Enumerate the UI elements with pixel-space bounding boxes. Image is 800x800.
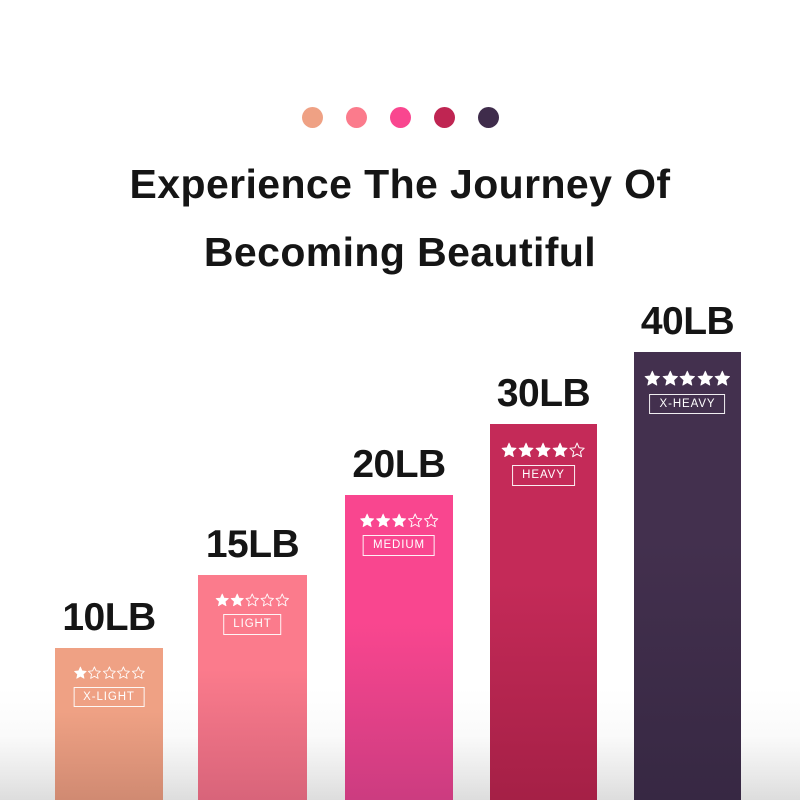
star-filled-icon xyxy=(502,442,518,458)
bar-badge: HEAVY xyxy=(499,442,589,486)
star-rating xyxy=(360,513,439,528)
star-filled-icon xyxy=(519,442,535,458)
star-filled-icon xyxy=(215,593,229,607)
star-empty-icon xyxy=(131,666,145,680)
poster-canvas: Experience The Journey Of Becoming Beaut… xyxy=(0,0,800,800)
star-filled-icon xyxy=(73,666,87,680)
bar-value-label: 10LB xyxy=(62,598,155,648)
bar-group-heavy[interactable]: 30LBHEAVY xyxy=(490,424,597,800)
bar-fill: X-HEAVY xyxy=(634,352,741,800)
bar-badge: X-HEAVY xyxy=(643,370,733,414)
level-label: MEDIUM xyxy=(363,535,435,556)
star-empty-icon xyxy=(102,666,116,680)
star-filled-icon xyxy=(392,513,407,528)
star-filled-icon xyxy=(360,513,375,528)
star-empty-icon xyxy=(570,442,586,458)
star-empty-icon xyxy=(260,593,274,607)
bar-badge: LIGHT xyxy=(207,593,299,635)
star-filled-icon xyxy=(697,370,714,387)
star-rating xyxy=(644,370,731,387)
resistance-bar-chart: 10LBX-LIGHT15LBLIGHT20LBMEDIUM30LBHEAVY4… xyxy=(0,0,800,800)
star-rating xyxy=(73,666,145,680)
bar-value-label: 20LB xyxy=(352,445,445,495)
bar-value-label: 30LB xyxy=(497,374,590,424)
bar-value-label: 40LB xyxy=(641,302,734,352)
bar-badge: MEDIUM xyxy=(354,513,445,556)
star-rating xyxy=(502,442,586,458)
star-empty-icon xyxy=(88,666,102,680)
bar-fill: MEDIUM xyxy=(345,495,453,800)
bar-group-x-heavy[interactable]: 40LBX-HEAVY xyxy=(634,352,741,800)
star-empty-icon xyxy=(245,593,259,607)
star-filled-icon xyxy=(376,513,391,528)
star-filled-icon xyxy=(230,593,244,607)
star-filled-icon xyxy=(679,370,696,387)
star-filled-icon xyxy=(553,442,569,458)
bar-fill: X-LIGHT xyxy=(55,648,163,800)
bar-group-medium[interactable]: 20LBMEDIUM xyxy=(345,495,453,800)
star-rating xyxy=(215,593,289,607)
bar-group-x-light[interactable]: 10LBX-LIGHT xyxy=(55,648,163,800)
bar-fill: HEAVY xyxy=(490,424,597,800)
star-filled-icon xyxy=(644,370,661,387)
star-empty-icon xyxy=(408,513,423,528)
level-label: X-HEAVY xyxy=(650,394,726,415)
level-label: LIGHT xyxy=(223,614,281,635)
level-label: X-LIGHT xyxy=(73,687,145,708)
star-filled-icon xyxy=(662,370,679,387)
star-filled-icon xyxy=(714,370,731,387)
star-filled-icon xyxy=(536,442,552,458)
bar-value-label: 15LB xyxy=(206,525,299,575)
level-label: HEAVY xyxy=(512,465,575,486)
bar-group-light[interactable]: 15LBLIGHT xyxy=(198,575,307,800)
bar-badge: X-LIGHT xyxy=(64,666,155,707)
star-empty-icon xyxy=(117,666,131,680)
star-empty-icon xyxy=(275,593,289,607)
bar-fill: LIGHT xyxy=(198,575,307,800)
star-empty-icon xyxy=(424,513,439,528)
